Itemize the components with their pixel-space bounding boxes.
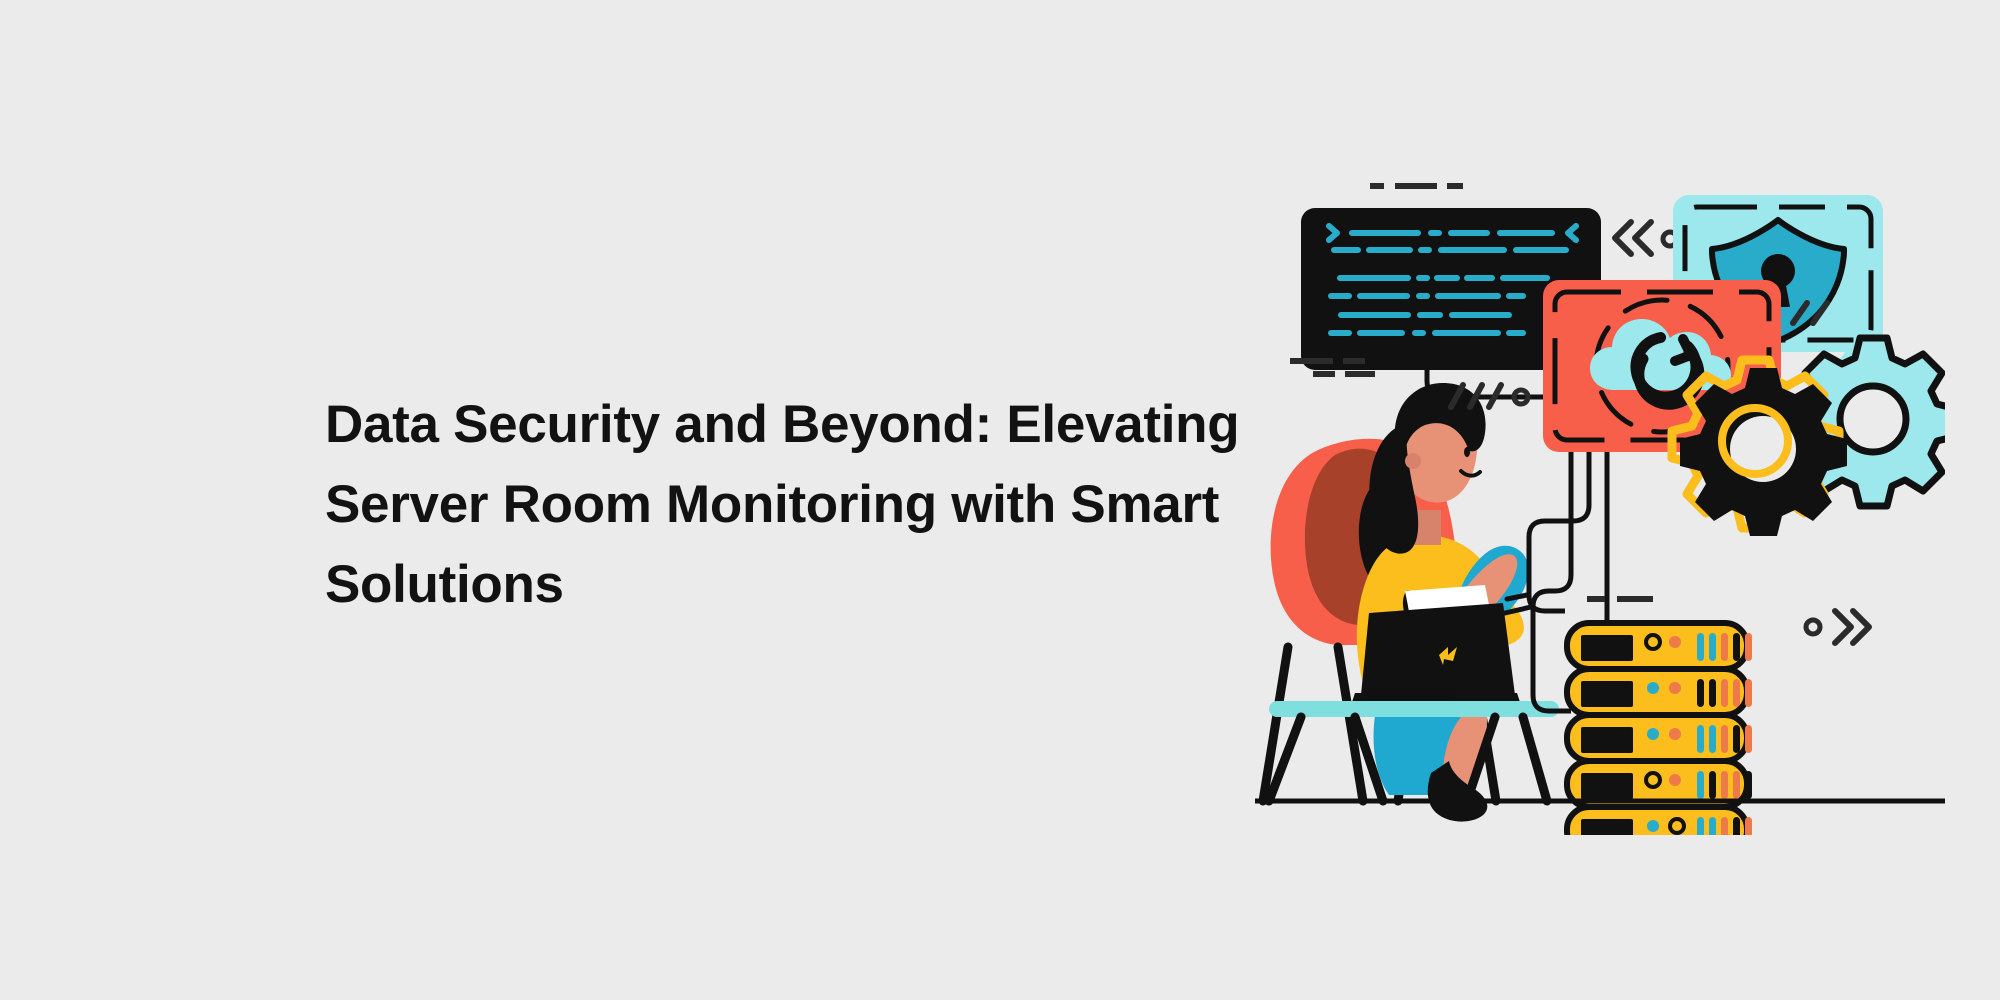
person-with-laptop: [1263, 383, 1531, 822]
server-unit: [1567, 807, 1752, 835]
chevron-left-decoration: [1615, 222, 1651, 254]
dot-decoration-right: [1806, 620, 1820, 634]
server-room-monitoring-illustration: [1255, 175, 1945, 835]
server-unit: [1567, 623, 1752, 669]
hero-section: Data Security and Beyond: Elevating Serv…: [0, 0, 2000, 1000]
page-title: Data Security and Beyond: Elevating Serv…: [325, 385, 1245, 625]
gear-black: [1672, 360, 1847, 536]
server-unit: [1567, 715, 1752, 761]
server-unit: [1567, 669, 1752, 715]
hero-text-block: Data Security and Beyond: Elevating Serv…: [325, 385, 1245, 625]
chevron-right-decoration: [1835, 611, 1869, 643]
